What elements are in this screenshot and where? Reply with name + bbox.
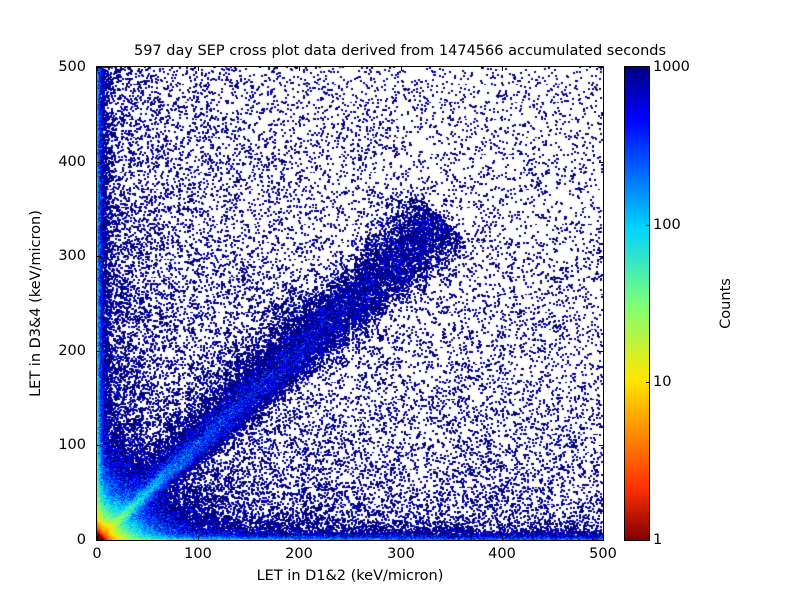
x-tick-mark	[401, 536, 402, 540]
y-tick-label: 300	[58, 248, 86, 264]
x-tick-mark-top	[401, 67, 402, 71]
y-tick-mark-right	[599, 351, 603, 352]
y-tick-mark	[97, 162, 101, 163]
colorbar-tick-label: 1	[653, 532, 662, 548]
colorbar-label: Counts	[718, 66, 734, 541]
y-tick-label: 200	[58, 343, 86, 359]
colorbar-gradient	[625, 67, 649, 540]
y-tick-label: 400	[58, 154, 86, 170]
x-axis-label: LET in D1&2 (keV/micron)	[96, 568, 604, 584]
y-tick-mark-right	[599, 445, 603, 446]
plot-title-line-1: 597 day SEP cross plot data derived from…	[0, 42, 800, 60]
x-tick-label: 100	[184, 546, 212, 562]
colorbar-tick-mark	[646, 225, 650, 226]
x-tick-label: 500	[589, 546, 617, 562]
scatter-heatmap	[97, 67, 603, 540]
x-tick-mark	[502, 536, 503, 540]
x-tick-mark-top	[299, 67, 300, 71]
x-tick-mark	[603, 536, 604, 540]
plot-area	[96, 66, 604, 541]
y-tick-label: 100	[58, 437, 86, 453]
y-tick-label: 0	[77, 532, 86, 548]
x-tick-label: 400	[488, 546, 516, 562]
y-tick-label: 500	[58, 59, 86, 75]
colorbar	[624, 66, 650, 541]
y-tick-mark-right	[599, 67, 603, 68]
colorbar-tick-mark	[646, 382, 650, 383]
y-tick-mark	[97, 351, 101, 352]
x-tick-mark	[299, 536, 300, 540]
x-tick-label: 200	[285, 546, 313, 562]
y-tick-mark	[97, 445, 101, 446]
figure-canvas: 597 day SEP cross plot data derived from…	[0, 0, 800, 600]
x-tick-mark-top	[198, 67, 199, 71]
x-tick-mark-top	[603, 67, 604, 71]
x-tick-label: 300	[387, 546, 415, 562]
y-tick-mark-right	[599, 540, 603, 541]
x-tick-mark-top	[502, 67, 503, 71]
y-tick-mark-right	[599, 162, 603, 163]
colorbar-tick-label: 100	[653, 217, 681, 233]
y-tick-mark	[97, 540, 101, 541]
y-tick-mark-right	[599, 256, 603, 257]
x-tick-label: 0	[92, 546, 101, 562]
colorbar-tick-label: 10	[653, 374, 671, 390]
x-tick-mark	[198, 536, 199, 540]
colorbar-tick-label: 1000	[653, 59, 690, 75]
y-tick-mark	[97, 67, 101, 68]
y-tick-mark	[97, 256, 101, 257]
y-axis-label: LET in D3&4 (keV/micron)	[28, 66, 44, 541]
